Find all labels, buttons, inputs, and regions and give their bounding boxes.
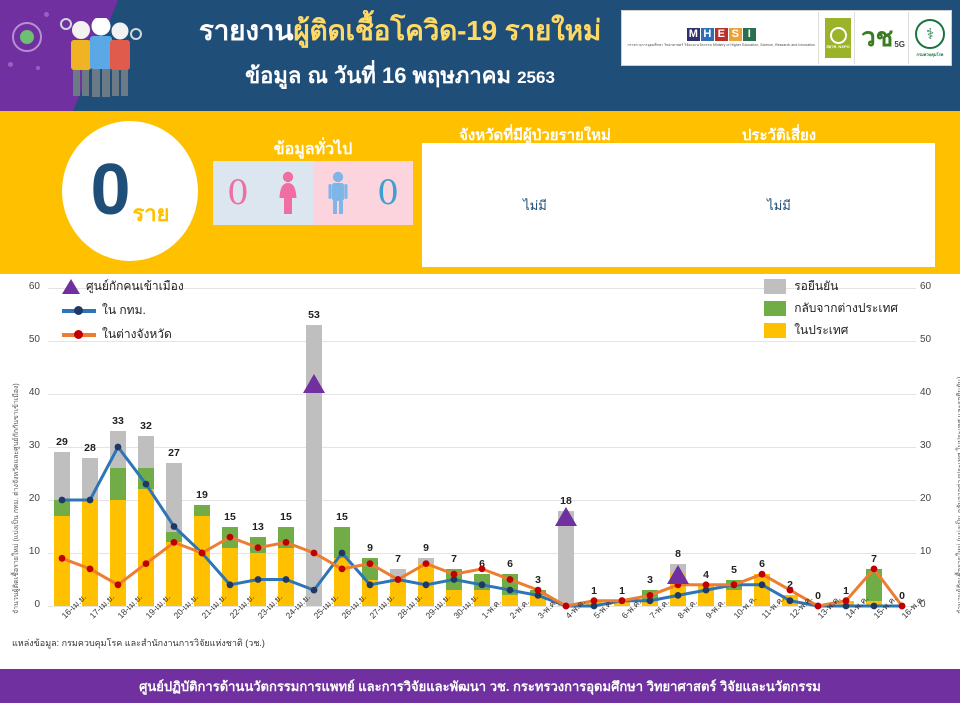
line-data-point[interactable] bbox=[255, 576, 262, 583]
page-footer: ศูนย์ปฏิบัติการด้านนวัตกรรมการแพทย์ และก… bbox=[0, 669, 960, 703]
mhesi-letter: M bbox=[687, 28, 700, 41]
line-data-point[interactable] bbox=[171, 539, 178, 546]
nrct-mark: วช bbox=[861, 27, 893, 49]
line-data-point[interactable] bbox=[535, 587, 542, 594]
decorative-dot-icon bbox=[36, 66, 40, 70]
mhesi-letter: I bbox=[743, 28, 756, 41]
y-axis-title-right: จำนวนผู้ติดเชื้อรายใหม่ (แบ่งเป็น กลับจา… bbox=[955, 377, 960, 614]
line-data-point[interactable] bbox=[787, 597, 794, 604]
line-data-point[interactable] bbox=[143, 481, 150, 488]
female-count: 0 bbox=[227, 173, 249, 213]
nrct-logo: วช 5G bbox=[858, 12, 909, 64]
line-data-point[interactable] bbox=[339, 550, 346, 557]
y-axis-tick-left: 30 bbox=[14, 440, 40, 451]
summary-strip: 0 ราย ข้อมูลทั่วไป 0 0 จังหวัดที่มีผู้ป่… bbox=[0, 111, 960, 274]
line-data-point[interactable] bbox=[507, 587, 514, 594]
line-data-point[interactable] bbox=[479, 581, 486, 588]
mhesi-logo: M H E S I กระทรวงการอุดมศึกษา วิทยาศาสตร… bbox=[625, 12, 820, 64]
line-data-point[interactable] bbox=[255, 544, 262, 551]
mhesi-letter: E bbox=[715, 28, 728, 41]
female-group: 0 bbox=[213, 161, 313, 225]
line-data-point[interactable] bbox=[395, 576, 402, 583]
y-axis-tick-left: 0 bbox=[14, 599, 40, 610]
line-data-point[interactable] bbox=[423, 560, 430, 567]
line-data-point[interactable] bbox=[703, 581, 710, 588]
line-data-point[interactable] bbox=[479, 566, 486, 573]
line-data-point[interactable] bbox=[87, 566, 94, 573]
line-data-point[interactable] bbox=[871, 566, 878, 573]
risk-card-value: ไม่มี bbox=[767, 195, 791, 216]
y-axis-tick-left: 10 bbox=[14, 546, 40, 557]
mhesi-letter: S bbox=[729, 28, 742, 41]
chart-line-series bbox=[48, 288, 916, 606]
line-data-point[interactable] bbox=[59, 497, 66, 504]
detention-center-marker[interactable] bbox=[303, 374, 325, 393]
risk-card: ไม่มี bbox=[623, 143, 935, 267]
nrct-sub: 5G bbox=[894, 40, 905, 49]
chart-plot-area: 2928333227191513155315979766318113845620… bbox=[48, 288, 916, 606]
footer-text: ศูนย์ปฏิบัติการด้านนวัตกรรมการแพทย์ และก… bbox=[139, 676, 821, 697]
line-data-point[interactable] bbox=[787, 587, 794, 594]
line-data-point[interactable] bbox=[367, 560, 374, 567]
line-data-point[interactable] bbox=[283, 576, 290, 583]
line-data-point[interactable] bbox=[423, 581, 430, 588]
y-axis-tick-right: 40 bbox=[920, 387, 931, 398]
male-count: 0 bbox=[377, 173, 399, 213]
line-data-point[interactable] bbox=[647, 592, 654, 599]
line-data-point[interactable] bbox=[367, 581, 374, 588]
page-subtitle: ข้อมูล ณ วันที่ 16 พฤษภาคม 2563 bbox=[150, 58, 650, 93]
decorative-dot-icon bbox=[20, 30, 34, 44]
line-data-point[interactable] bbox=[759, 581, 766, 588]
female-icon bbox=[277, 171, 299, 215]
mhesi-caption: กระทรวงการอุดมศึกษา วิทยาศาสตร์ วิจัยและ… bbox=[628, 43, 816, 48]
gender-breakdown: 0 0 bbox=[213, 161, 413, 225]
y-axis-tick-left: 60 bbox=[14, 281, 40, 292]
gear-icon bbox=[830, 27, 847, 44]
male-icon bbox=[327, 171, 349, 215]
line-data-point[interactable] bbox=[675, 592, 682, 599]
line-data-point[interactable] bbox=[143, 560, 150, 567]
detention-center-marker[interactable] bbox=[555, 507, 577, 526]
total-cases-badge: 0 ราย bbox=[62, 121, 198, 261]
line-data-point[interactable] bbox=[115, 581, 122, 588]
general-info-title: ข้อมูลทั่วไป bbox=[213, 137, 413, 162]
line-data-point[interactable] bbox=[87, 497, 94, 504]
decorative-dot-icon bbox=[44, 12, 49, 17]
nxpo-label: สอวช. NXPO bbox=[826, 45, 849, 50]
line-data-point[interactable] bbox=[199, 550, 206, 557]
y-axis-tick-left: 20 bbox=[14, 493, 40, 504]
mhesi-letter: H bbox=[701, 28, 714, 41]
source-note: แหล่งข้อมูล: กรมควบคุมโรค และสำนักงานการ… bbox=[12, 636, 265, 650]
provinces-card-value: ไม่มี bbox=[523, 195, 547, 216]
nxpo-logo: สอวช. NXPO bbox=[822, 12, 855, 64]
people-group-icon bbox=[58, 18, 144, 98]
line-data-point[interactable] bbox=[115, 444, 122, 451]
line-data-point[interactable] bbox=[591, 597, 598, 604]
line-data-point[interactable] bbox=[451, 571, 458, 578]
y-axis-tick-left: 50 bbox=[14, 334, 40, 345]
y-axis-tick-right: 10 bbox=[920, 546, 931, 557]
page-header: รายงานผู้ติดเชื้อโควิด-19 รายใหม่ ข้อมูล… bbox=[0, 0, 960, 111]
line-data-point[interactable] bbox=[311, 587, 318, 594]
total-cases-value: 0 bbox=[90, 162, 130, 220]
male-group: 0 bbox=[313, 161, 413, 225]
total-cases-unit: ราย bbox=[132, 196, 169, 231]
header-title-block: รายงานผู้ติดเชื้อโควิด-19 รายใหม่ ข้อมูล… bbox=[150, 10, 650, 93]
page-title: รายงานผู้ติดเชื้อโควิด-19 รายใหม่ bbox=[150, 10, 650, 52]
y-axis-tick-right: 60 bbox=[920, 281, 931, 292]
moph-caption: กรมควบคุมโรค bbox=[917, 51, 944, 58]
y-axis-tick-right: 30 bbox=[920, 440, 931, 451]
y-axis-tick-right: 20 bbox=[920, 493, 931, 504]
y-axis-tick-right: 50 bbox=[920, 334, 931, 345]
line-data-point[interactable] bbox=[283, 539, 290, 546]
line-data-point[interactable] bbox=[59, 555, 66, 562]
y-axis-tick-left: 40 bbox=[14, 387, 40, 398]
moph-logo: ⚕ กรมควบคุมโรค bbox=[912, 12, 948, 64]
line-data-point[interactable] bbox=[171, 523, 178, 530]
decorative-dot-icon bbox=[8, 62, 13, 67]
detention-center-marker[interactable] bbox=[667, 565, 689, 584]
covid-cases-chart: จำนวนผู้ติดเชื้อรายใหม่ (แบ่งเป็น กทม. ต… bbox=[0, 274, 960, 651]
line-data-point[interactable] bbox=[619, 597, 626, 604]
line-data-point[interactable] bbox=[507, 576, 514, 583]
line-data-point[interactable] bbox=[731, 581, 738, 588]
line-data-point[interactable] bbox=[227, 581, 234, 588]
line-data-point[interactable] bbox=[759, 571, 766, 578]
caduceus-icon: ⚕ bbox=[915, 19, 945, 49]
logo-bar: M H E S I กระทรวงการอุดมศึกษา วิทยาศาสตร… bbox=[621, 10, 952, 66]
line-data-point[interactable] bbox=[227, 534, 234, 541]
line-data-point[interactable] bbox=[339, 566, 346, 573]
provinces-card: ไม่มี bbox=[422, 143, 648, 267]
line-data-point[interactable] bbox=[311, 550, 318, 557]
